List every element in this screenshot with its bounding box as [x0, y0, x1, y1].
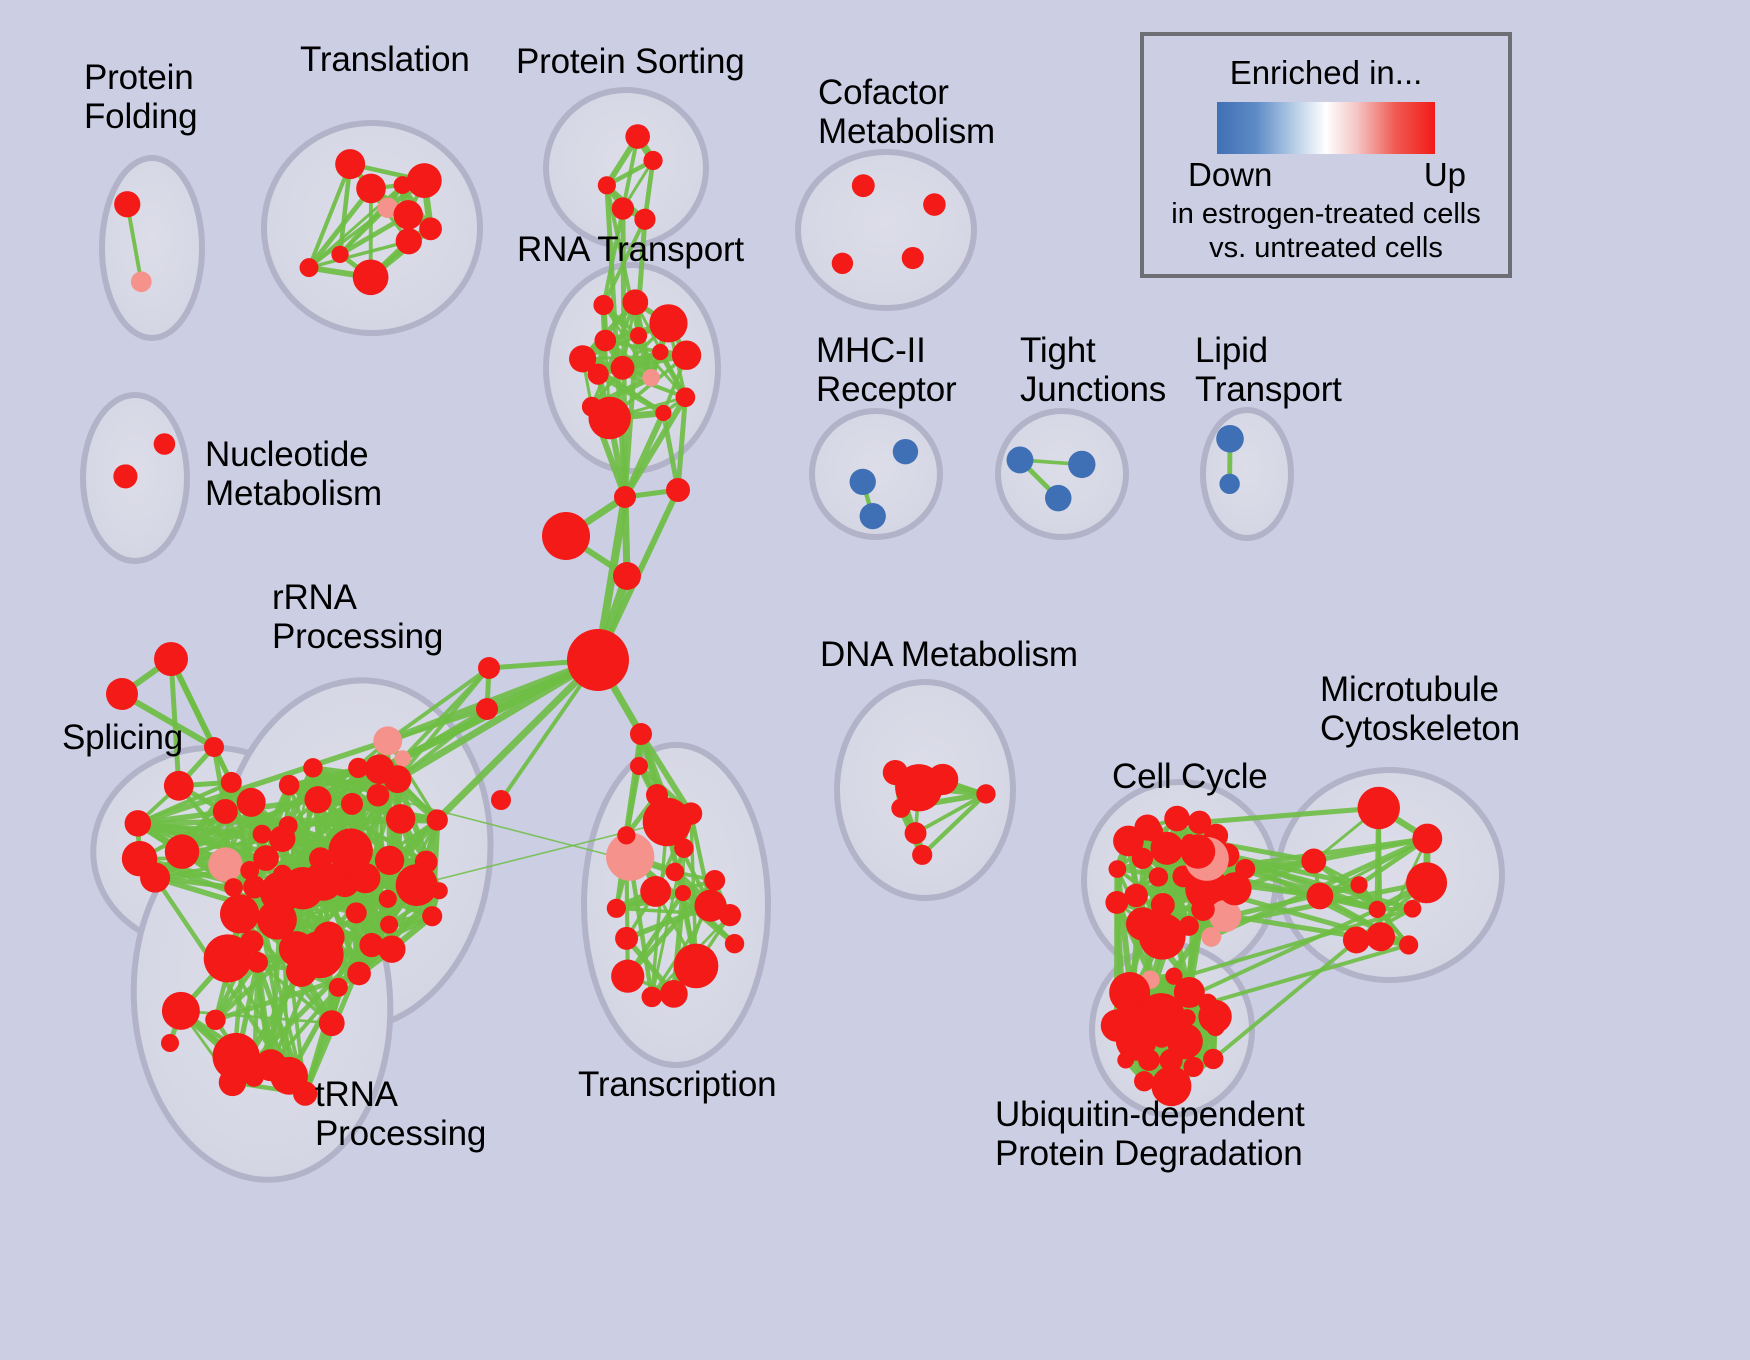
cluster-hull-tight-junctions [998, 411, 1126, 537]
network-node [154, 642, 188, 676]
network-node [634, 209, 655, 230]
network-node [649, 304, 687, 342]
network-node [393, 200, 422, 229]
legend-title: Enriched in... [1144, 54, 1508, 92]
network-node [353, 259, 389, 295]
network-node [642, 369, 660, 387]
network-node [676, 387, 696, 407]
network-node [1203, 1049, 1223, 1069]
network-node [1151, 893, 1175, 917]
network-node [1045, 485, 1072, 512]
network-node [350, 863, 380, 893]
network-node [270, 1057, 308, 1095]
cluster-label-cell-cycle: Cell Cycle [1112, 757, 1268, 796]
network-node [594, 330, 616, 352]
network-node [1198, 1000, 1231, 1033]
network-node [476, 698, 498, 720]
cluster-label-tight-junctions: Tight Junctions [1020, 331, 1166, 409]
network-node [478, 657, 500, 679]
network-node [113, 464, 137, 488]
network-node [615, 927, 638, 950]
network-node [204, 934, 252, 982]
network-node [675, 885, 691, 901]
network-node [588, 397, 631, 440]
network-node [617, 826, 635, 844]
network-node [380, 916, 398, 934]
network-node [719, 904, 741, 926]
network-node [244, 1067, 264, 1087]
network-node [419, 217, 442, 240]
network-node [384, 765, 412, 793]
legend-color-bar [1217, 102, 1435, 154]
network-node [161, 1034, 179, 1052]
network-node [220, 894, 259, 933]
network-node [378, 936, 405, 963]
network-node [598, 176, 616, 194]
network-node [630, 327, 647, 344]
legend-caption-line2: vs. untreated cells [1144, 232, 1508, 264]
network-node [852, 174, 875, 197]
legend-high-label: Up [1424, 156, 1466, 194]
network-node [1301, 849, 1326, 874]
cluster-label-protein-folding: Protein Folding [84, 58, 197, 136]
network-node [1350, 876, 1367, 893]
network-node [1143, 821, 1163, 841]
network-node [375, 846, 404, 875]
network-node [331, 246, 348, 263]
network-node [224, 878, 243, 897]
cluster-label-splicing: Splicing [62, 718, 183, 757]
network-node [905, 822, 927, 844]
network-node [976, 784, 995, 803]
network-node [607, 899, 626, 918]
network-node [893, 439, 918, 464]
network-node [204, 737, 224, 757]
cluster-label-cofactor-metabolism: Cofactor Metabolism [818, 73, 995, 151]
network-node [114, 191, 140, 217]
network-node [379, 890, 397, 908]
network-node [422, 906, 442, 926]
network-node [208, 847, 243, 882]
network-node [125, 810, 152, 837]
network-node [642, 987, 663, 1008]
network-node [348, 758, 368, 778]
network-node [396, 228, 422, 254]
network-node [106, 678, 138, 710]
network-node [860, 503, 886, 529]
network-node [329, 978, 348, 997]
network-node [660, 980, 688, 1008]
network-node [927, 764, 958, 795]
network-node [304, 786, 331, 813]
network-node [1235, 859, 1255, 879]
network-node [1406, 862, 1447, 903]
network-node [640, 876, 671, 907]
network-node [1179, 916, 1199, 936]
network-node [319, 1010, 345, 1036]
network-node [652, 344, 668, 360]
network-node [396, 864, 438, 906]
network-node [296, 931, 343, 978]
network-node [243, 876, 266, 899]
legend-caption-line1: in estrogen-treated cells [1144, 198, 1508, 230]
network-node [542, 512, 590, 560]
network-node [427, 809, 448, 830]
cluster-hull-cofactor-metabolism [798, 152, 974, 308]
network-node [386, 804, 415, 833]
network-node [611, 356, 635, 380]
network-node [279, 775, 300, 796]
cluster-label-dna-metabolism: DNA Metabolism [820, 635, 1078, 674]
network-node [1412, 824, 1442, 854]
cluster-label-mhc-ii-receptor: MHC-II Receptor [816, 331, 956, 409]
network-node [614, 486, 636, 508]
network-node [1167, 1023, 1203, 1059]
legend-endpoints: Down Up [1196, 156, 1456, 196]
cluster-hull-protein-sorting [546, 90, 706, 246]
legend-box: Enriched in... Down Up in estrogen-treat… [1140, 32, 1512, 278]
network-node [912, 845, 932, 865]
network-node [622, 289, 648, 315]
network-node [303, 758, 322, 777]
network-node [1068, 451, 1095, 478]
cluster-label-nucleotide-metabolism: Nucleotide Metabolism [205, 435, 382, 513]
cluster-label-translation: Translation [300, 40, 470, 79]
network-node [704, 870, 725, 891]
network-node [1366, 922, 1395, 951]
network-node [1369, 901, 1386, 918]
network-node [335, 149, 365, 179]
network-node [891, 799, 910, 818]
network-node [1165, 968, 1182, 985]
network-node [346, 902, 367, 923]
network-node [341, 793, 363, 815]
network-node [850, 469, 876, 495]
cluster-hull-lipid-transport [1203, 410, 1291, 538]
network-node [672, 341, 701, 370]
network-node [140, 863, 170, 893]
network-node [237, 788, 266, 817]
network-node [630, 723, 652, 745]
network-node [1343, 927, 1370, 954]
network-node [666, 863, 685, 882]
figure-canvas: Protein FoldingTranslationProtein Sortin… [0, 0, 1750, 1360]
network-node [407, 163, 442, 198]
network-node [253, 825, 272, 844]
cluster-label-rrna-processing: rRNA Processing [272, 578, 443, 656]
network-node [347, 962, 371, 986]
network-node [646, 784, 668, 806]
network-node [356, 174, 386, 204]
network-node [373, 726, 402, 755]
network-node [625, 124, 650, 149]
network-node [674, 944, 719, 989]
network-node [680, 802, 703, 825]
network-node [279, 816, 298, 835]
network-node [612, 197, 634, 219]
network-node [1216, 425, 1244, 453]
network-node [394, 750, 410, 766]
network-node [613, 562, 641, 590]
network-node [1117, 996, 1137, 1016]
network-node [165, 834, 200, 869]
network-node [611, 960, 644, 993]
cluster-label-transcription: Transcription [578, 1065, 776, 1104]
network-node [655, 405, 671, 421]
cluster-label-protein-sorting: Protein Sorting [516, 42, 745, 81]
network-node [1219, 474, 1239, 494]
cluster-label-rna-transport: RNA Transport [517, 230, 744, 269]
network-node [643, 151, 662, 170]
network-node [1105, 891, 1128, 914]
network-node [1117, 1052, 1134, 1069]
cluster-hull-protein-folding [102, 158, 202, 338]
network-node [1007, 447, 1034, 474]
network-node [666, 478, 690, 502]
network-node [1113, 826, 1144, 857]
network-node [1357, 787, 1399, 829]
cluster-label-ubiquitin-protein-degradation: Ubiquitin-dependent Protein Degradation [995, 1095, 1305, 1173]
cluster-label-trna-processing: tRNA Processing [315, 1075, 486, 1153]
network-node [1152, 1028, 1172, 1048]
network-node [1134, 1071, 1154, 1091]
network-node [832, 253, 853, 274]
network-node [260, 871, 302, 913]
network-node [491, 790, 511, 810]
network-node [300, 258, 319, 277]
network-node [154, 433, 176, 455]
network-node [588, 364, 609, 385]
network-node [1404, 900, 1422, 918]
network-node [674, 838, 693, 857]
network-node [567, 629, 629, 691]
network-node [1399, 935, 1418, 954]
network-node [593, 295, 613, 315]
network-node [205, 1010, 225, 1030]
network-node [1188, 811, 1211, 834]
network-node [923, 193, 946, 216]
cluster-label-lipid-transport: Lipid Transport [1195, 331, 1342, 409]
network-node [1181, 834, 1215, 868]
network-node [902, 247, 924, 269]
network-node [630, 757, 648, 775]
network-node [1149, 867, 1168, 886]
network-node [164, 771, 194, 801]
network-node [213, 799, 238, 824]
network-node [1164, 806, 1190, 832]
network-node [1109, 860, 1127, 878]
cluster-label-microtubule-cytoskeleton: Microtubule Cytoskeleton [1320, 670, 1520, 748]
network-node [221, 772, 242, 793]
network-node [131, 271, 152, 292]
network-node [725, 934, 744, 953]
network-node [1191, 897, 1215, 921]
legend-low-label: Down [1188, 156, 1272, 194]
network-node [367, 784, 390, 807]
network-node [1307, 883, 1334, 910]
network-node [883, 760, 908, 785]
network-node [162, 992, 200, 1030]
